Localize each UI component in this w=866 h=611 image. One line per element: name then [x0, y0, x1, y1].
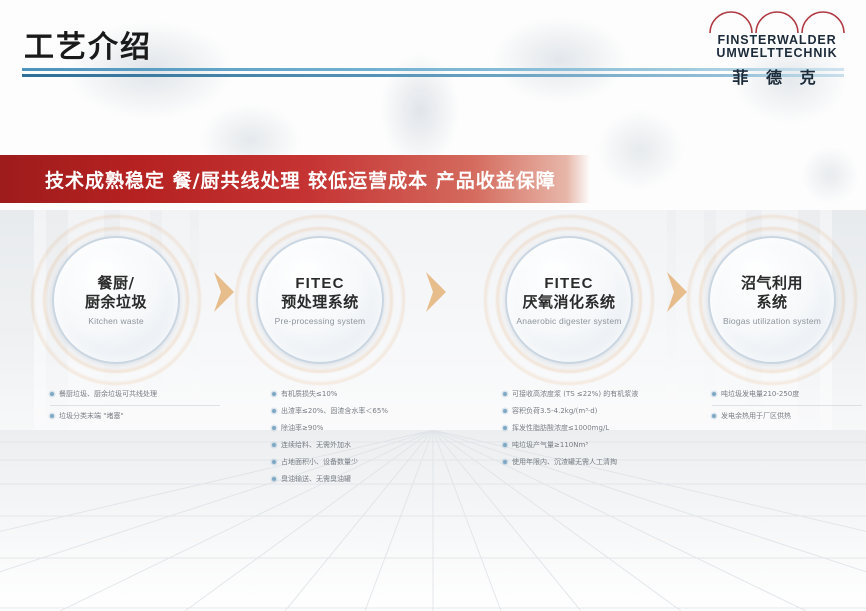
bullet-item: 出渣率≤20%、固渣含水率＜65%	[272, 405, 472, 418]
bullet-dot-icon	[272, 426, 276, 430]
bullet-dot-icon	[712, 414, 716, 418]
bullet-dot-icon	[272, 443, 276, 447]
arches-icon	[707, 8, 847, 34]
company-logo: FINSTERWALDER UMWELTTECHNIK 菲 德 克	[702, 8, 852, 88]
flow-node-biogas-utilization[interactable]: 沼气利用 系统 Biogas utilization system	[708, 236, 836, 364]
bullet-dot-icon	[503, 409, 507, 413]
slide-canvas: 工艺介绍 FINSTERWALDER UMWELTTECHNIK 菲 德 克 技…	[0, 0, 866, 611]
bullet-item: 吨垃圾产气量≥110Nm³	[503, 439, 718, 452]
node-title: FITEC 预处理系统	[281, 274, 359, 312]
bullet-dot-icon	[503, 392, 507, 396]
node-title: FITEC 厌氧消化系统	[522, 274, 615, 312]
bullet-column-biogas-utilization: 吨垃圾发电量210-250度 发电余热用于厂区供热	[712, 388, 862, 427]
bullet-dot-icon	[272, 460, 276, 464]
node-disc: 沼气利用 系统 Biogas utilization system	[708, 236, 836, 364]
bullet-item: 垃圾分类末端 "堵塞"	[50, 410, 220, 423]
bullet-item: 使用年限内、沉渣罐无需人工清掏	[503, 456, 718, 469]
bullet-column-pre-processing: 有机质损失≤10% 出渣率≤20%、固渣含水率＜65% 除油率≥90% 连续给料…	[272, 388, 472, 490]
bullet-item: 吨垃圾发电量210-250度	[712, 388, 862, 401]
node-title: 餐厨/ 厨余垃圾	[85, 274, 147, 312]
bullet-dot-icon	[503, 426, 507, 430]
bullet-item: 臭油输送、无需臭油罐	[272, 473, 472, 486]
feature-bullet-columns: 餐厨垃圾、厨余垃圾可共线处理 垃圾分类末端 "堵塞" 有机质损失≤10% 出渣率…	[0, 388, 866, 498]
flow-node-kitchen-waste[interactable]: 餐厨/ 厨余垃圾 Kitchen waste	[52, 236, 180, 364]
bullet-item: 可接收高浓度浆 (TS ≤22%) 的有机浆液	[503, 388, 718, 401]
flow-node-pre-processing[interactable]: FITEC 预处理系统 Pre-processing system	[256, 236, 384, 364]
banner-text: 技术成熟稳定 餐/厨共线处理 较低运营成本 产品收益保障	[45, 166, 556, 193]
bullet-dot-icon	[50, 392, 54, 396]
bullet-dot-icon	[712, 392, 716, 396]
node-disc: FITEC 预处理系统 Pre-processing system	[256, 236, 384, 364]
bullet-column-anaerobic-digester: 可接收高浓度浆 (TS ≤22%) 的有机浆液 容积负荷3.5-4.2kg/(m…	[503, 388, 718, 473]
bullet-underline	[712, 405, 862, 406]
bullet-dot-icon	[50, 414, 54, 418]
logo-line-2: UMWELTTECHNIK	[702, 47, 852, 60]
bullet-column-kitchen-waste: 餐厨垃圾、厨余垃圾可共线处理 垃圾分类末端 "堵塞"	[50, 388, 220, 427]
node-disc: 餐厨/ 厨余垃圾 Kitchen waste	[52, 236, 180, 364]
node-subtitle: Biogas utilization system	[723, 316, 821, 326]
bullet-item: 容积负荷3.5-4.2kg/(m³·d)	[503, 405, 718, 418]
flow-node-anaerobic-digester[interactable]: FITEC 厌氧消化系统 Anaerobic digester system	[505, 236, 633, 364]
bullet-item: 除油率≥90%	[272, 422, 472, 435]
flow-arrow-icon-2	[424, 270, 450, 314]
bullet-item: 挥发性脂肪酸浓度≤1000mg/L	[503, 422, 718, 435]
bullet-dot-icon	[503, 460, 507, 464]
key-benefits-banner: 技术成熟稳定 餐/厨共线处理 较低运营成本 产品收益保障	[0, 155, 590, 203]
bullet-item: 占地面积小、设备数量少	[272, 456, 472, 469]
bullet-dot-icon	[503, 443, 507, 447]
logo-chinese-name: 菲 德 克	[702, 64, 852, 88]
bullet-dot-icon	[272, 392, 276, 396]
bullet-dot-icon	[272, 477, 276, 481]
node-subtitle: Pre-processing system	[275, 316, 366, 326]
bullet-dot-icon	[272, 409, 276, 413]
bullet-item: 发电余热用于厂区供热	[712, 410, 862, 423]
bullet-underline	[50, 405, 220, 406]
page-title: 工艺介绍	[24, 22, 152, 66]
node-title: 沼气利用 系统	[741, 274, 803, 312]
node-subtitle: Anaerobic digester system	[516, 316, 621, 326]
process-flow: 餐厨/ 厨余垃圾 Kitchen waste FITEC 预处理系统 Pre-p…	[0, 228, 866, 378]
node-disc: FITEC 厌氧消化系统 Anaerobic digester system	[505, 236, 633, 364]
bullet-item: 连续给料、无需外加水	[272, 439, 472, 452]
node-subtitle: Kitchen waste	[88, 316, 144, 326]
bullet-item: 餐厨垃圾、厨余垃圾可共线处理	[50, 388, 220, 401]
bullet-item: 有机质损失≤10%	[272, 388, 472, 401]
